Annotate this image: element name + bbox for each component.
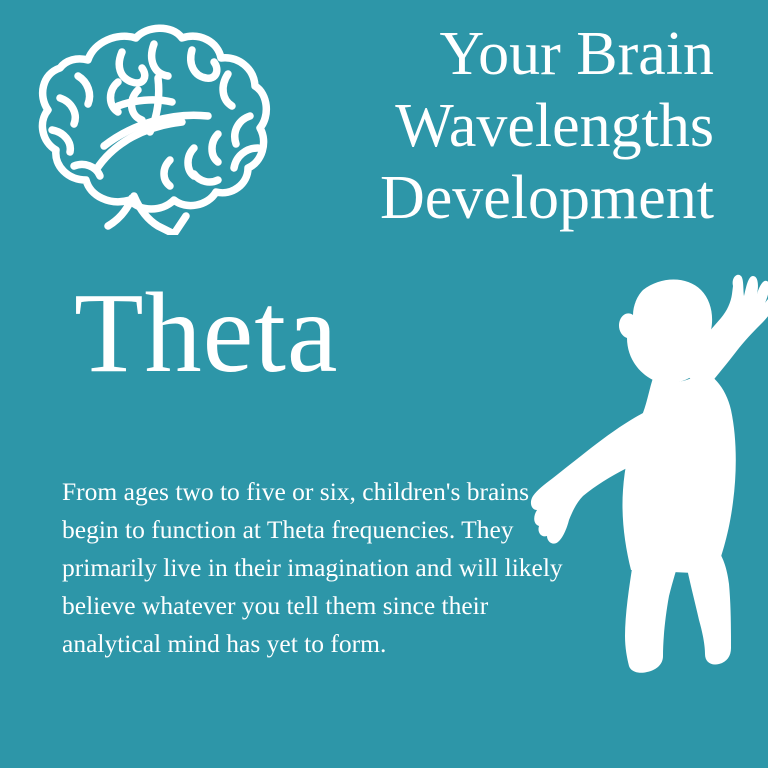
infographic-poster: Your Brain Wavelengths Development Theta… <box>0 0 768 768</box>
child-reaching-up-silhouette-icon <box>525 262 768 677</box>
description-text: From ages two to five or six, children's… <box>62 473 592 663</box>
title-line-1: Your Brain <box>254 18 714 90</box>
brain-icon <box>22 20 272 235</box>
header: Your Brain Wavelengths Development <box>0 0 768 250</box>
wave-name-heading: Theta <box>74 276 339 390</box>
title-line-2: Wavelengths <box>254 90 714 162</box>
page-title: Your Brain Wavelengths Development <box>254 18 714 234</box>
title-line-3: Development <box>254 162 714 234</box>
